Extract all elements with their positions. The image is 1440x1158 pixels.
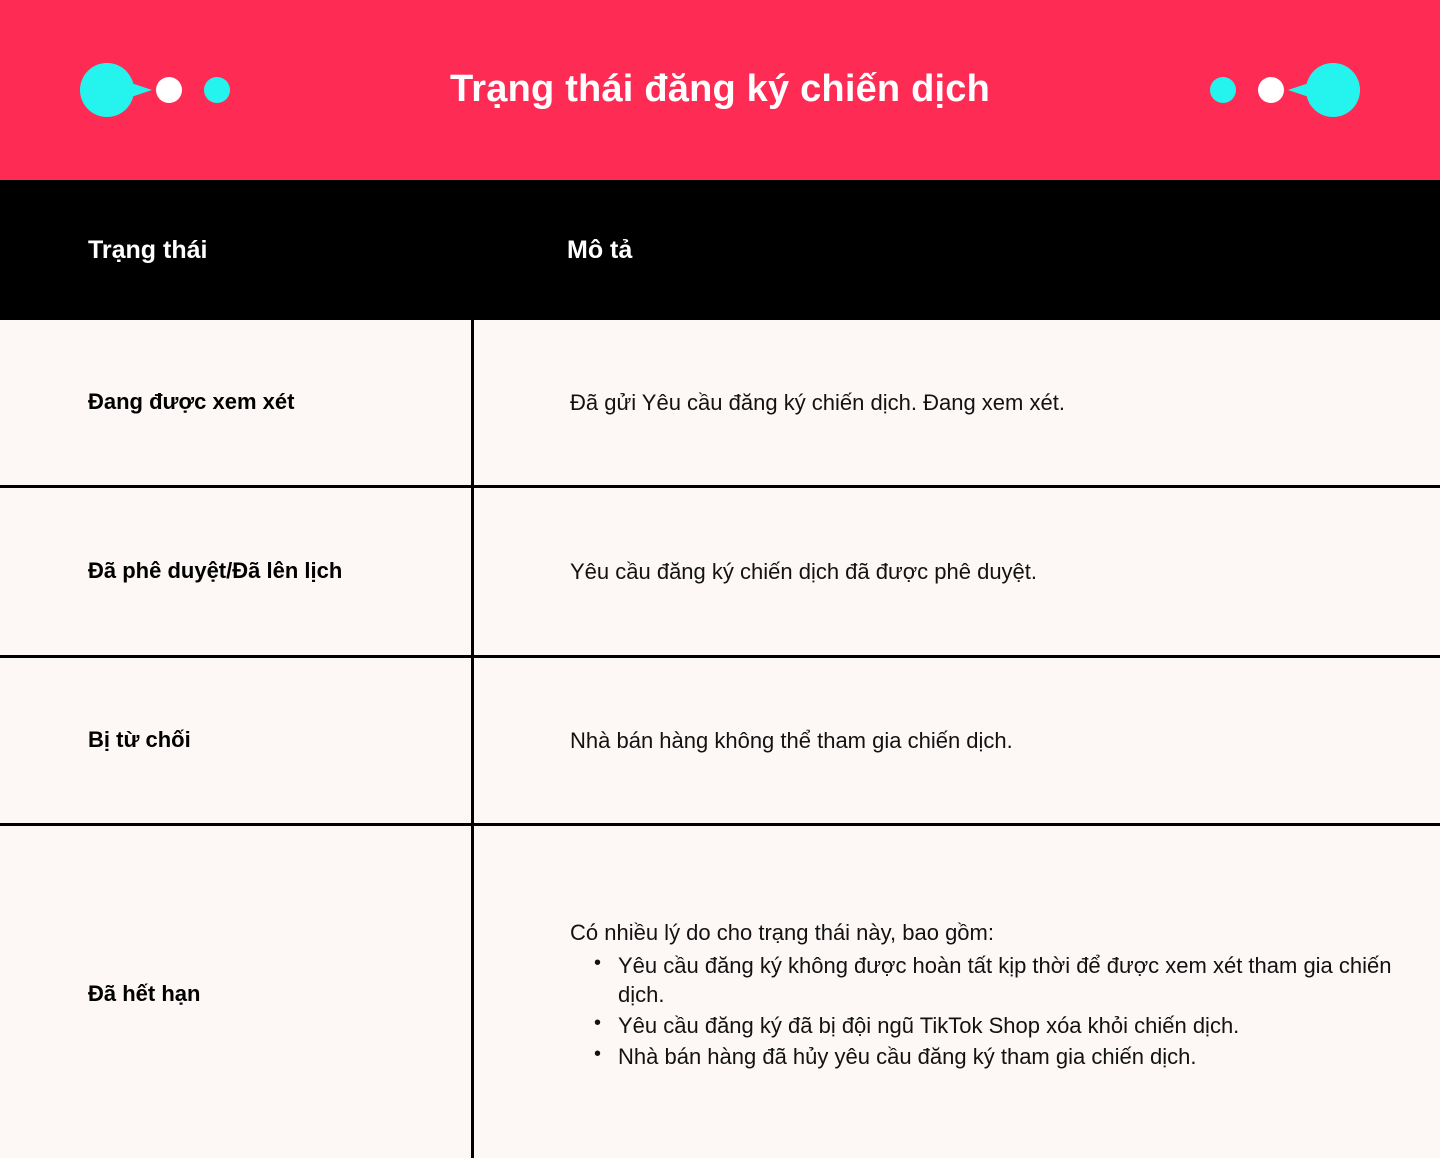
- cell-status: Đã hết hạn: [0, 826, 471, 1158]
- dot-white-icon: [1258, 77, 1284, 103]
- page-title: Trạng thái đăng ký chiến dịch: [450, 69, 990, 111]
- banner-decoration-right: [1210, 0, 1360, 180]
- status-table: Trạng thái Mô tả Đang được xem xét Đã gử…: [0, 180, 1440, 1158]
- description-text: Yêu cầu đăng ký chiến dịch đã được phê d…: [570, 557, 1400, 587]
- cell-status: Đang được xem xét: [0, 320, 471, 485]
- description-intro: Có nhiều lý do cho trạng thái này, bao g…: [570, 918, 1400, 948]
- list-item: Yêu cầu đăng ký đã bị đội ngũ TikTok Sho…: [590, 1011, 1400, 1040]
- banner-decoration-left: [80, 0, 230, 180]
- column-header-description: Mô tả: [471, 236, 1440, 265]
- dot-cyan-icon: [204, 77, 230, 103]
- description-text: Đã gửi Yêu cầu đăng ký chiến dịch. Đang …: [570, 388, 1400, 418]
- cell-status: Bị từ chối: [0, 658, 471, 823]
- description-bullet-list: Yêu cầu đăng ký không được hoàn tất kịp …: [570, 949, 1400, 1071]
- banner: Trạng thái đăng ký chiến dịch: [0, 0, 1440, 180]
- list-item: Nhà bán hàng đã hủy yêu cầu đăng ký tham…: [590, 1042, 1400, 1071]
- cell-status: Đã phê duyệt/Đã lên lịch: [0, 488, 471, 655]
- table-row: Đã hết hạn Có nhiều lý do cho trạng thái…: [0, 826, 1440, 1158]
- table-row: Đang được xem xét Đã gửi Yêu cầu đăng ký…: [0, 320, 1440, 488]
- column-header-status: Trạng thái: [0, 236, 471, 265]
- list-item: Yêu cầu đăng ký không được hoàn tất kịp …: [590, 951, 1400, 1009]
- table-header-row: Trạng thái Mô tả: [0, 180, 1440, 320]
- campaign-status-infographic: Trạng thái đăng ký chiến dịch Trạng thái…: [0, 0, 1440, 1158]
- cell-description: Nhà bán hàng không thể tham gia chiến dị…: [471, 658, 1440, 823]
- cell-description: Yêu cầu đăng ký chiến dịch đã được phê d…: [471, 488, 1440, 655]
- cell-description: Có nhiều lý do cho trạng thái này, bao g…: [471, 826, 1440, 1158]
- description-text: Nhà bán hàng không thể tham gia chiến dị…: [570, 726, 1400, 756]
- table-row: Bị từ chối Nhà bán hàng không thể tham g…: [0, 658, 1440, 826]
- teardrop-icon: [1306, 63, 1360, 117]
- dot-white-icon: [156, 77, 182, 103]
- teardrop-icon: [80, 63, 134, 117]
- table-row: Đã phê duyệt/Đã lên lịch Yêu cầu đăng ký…: [0, 488, 1440, 658]
- cell-description: Đã gửi Yêu cầu đăng ký chiến dịch. Đang …: [471, 320, 1440, 485]
- dot-cyan-icon: [1210, 77, 1236, 103]
